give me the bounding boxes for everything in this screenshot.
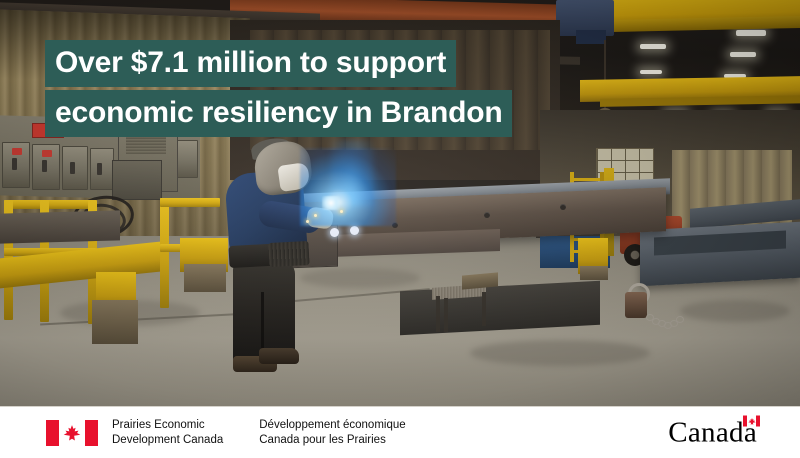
- ceiling-light: [730, 52, 756, 57]
- safety-railing: [160, 198, 220, 207]
- fip-english-line-1: Prairies Economic: [112, 418, 223, 433]
- steel-stock: [0, 210, 120, 243]
- fip-french-line-1: Développement économique: [259, 418, 405, 433]
- ceiling-light: [736, 30, 766, 36]
- flag-bar-right: [85, 420, 98, 446]
- electrical-panel: [176, 140, 198, 178]
- control-cabinet: [112, 160, 162, 200]
- maple-leaf-icon: [748, 417, 756, 425]
- fip-english-line-2: Development Canada: [112, 433, 223, 448]
- flag-bar-right: [756, 416, 760, 427]
- crane-hoist: [576, 30, 606, 44]
- panel-switch: [97, 163, 102, 175]
- work-table-leg: [436, 296, 440, 332]
- announcement-banner: Over $7.1 million to support economic re…: [0, 0, 800, 458]
- work-table-leg: [444, 298, 448, 332]
- beam-support-leg: [580, 266, 608, 280]
- chain-link: [676, 316, 684, 323]
- panel-tag: [12, 148, 22, 155]
- beam-reflection: [350, 226, 359, 235]
- footer-bar: Prairies Economic Development Canada Dév…: [0, 406, 800, 458]
- ceiling-light: [640, 70, 662, 74]
- beam-support-leg: [92, 300, 138, 344]
- canada-flag-icon: [46, 420, 98, 446]
- headline-line-2: economic resiliency in Brandon: [45, 90, 512, 137]
- headline-line-1: Over $7.1 million to support: [45, 40, 456, 87]
- fip-wordmark-english: Prairies Economic Development Canada: [112, 418, 223, 447]
- headline: Over $7.1 million to support economic re…: [45, 40, 512, 137]
- floor-stain: [680, 300, 790, 322]
- federal-identity-program-signature: Prairies Economic Development Canada Dév…: [46, 418, 406, 447]
- panel-tag: [42, 150, 52, 157]
- lifting-hook: [625, 292, 647, 318]
- flag-bar-left: [46, 420, 59, 446]
- fip-wordmark-french: Développement économique Canada pour les…: [259, 418, 405, 447]
- weld-arc-core: [322, 196, 340, 210]
- panel-switch: [70, 162, 75, 174]
- beam-bolt: [560, 204, 566, 210]
- ceiling-light: [640, 44, 666, 49]
- maple-leaf-icon: [63, 424, 81, 442]
- weld-spark: [306, 220, 309, 223]
- electrical-panel: [62, 146, 88, 190]
- safety-railing: [4, 200, 96, 209]
- canada-flag-icon: [743, 416, 760, 427]
- work-table-leg: [482, 292, 486, 326]
- weld-spark: [314, 214, 317, 217]
- beam-bolt: [484, 212, 490, 218]
- fip-french-line-2: Canada pour les Prairies: [259, 433, 405, 448]
- panel-switch: [12, 158, 17, 170]
- weld-spark: [340, 210, 343, 213]
- welder-belt-pouch: [268, 241, 309, 267]
- floor-stain: [470, 340, 650, 366]
- canada-wordmark: Canada: [668, 419, 760, 448]
- electrical-panel: [90, 148, 114, 190]
- panel-switch: [42, 160, 47, 172]
- welder-boot: [259, 348, 299, 364]
- safety-railing: [160, 198, 169, 308]
